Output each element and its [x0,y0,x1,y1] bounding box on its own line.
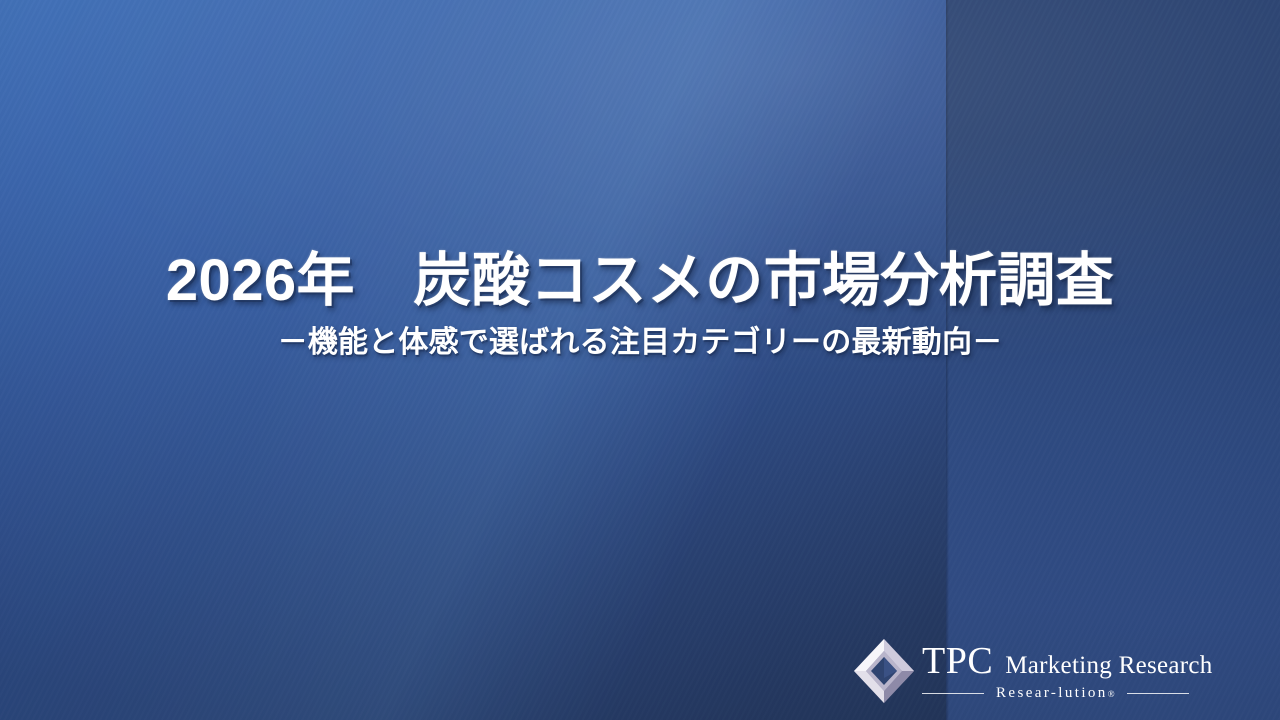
tpc-logo: TPC Marketing Research Resear-lution® [852,634,1232,708]
logo-rule-left [922,693,984,694]
logo-tagline: Resear-lution® [996,685,1115,702]
page-subtitle: －機能と体感で選ばれる注目カテゴリーの最新動向－ [0,324,1280,362]
title-slide: 2026年 炭酸コスメの市場分析調査 －機能と体感で選ばれる注目カテゴリーの最新… [0,0,1280,720]
logo-tagline-line: Resear-lution® [922,685,1213,702]
tpc-diamond-icon [852,637,916,705]
title-block: 2026年 炭酸コスメの市場分析調査 －機能と体感で選ばれる注目カテゴリーの最新… [0,246,1280,362]
logo-rule-right [1127,693,1189,694]
logo-registered-icon: ® [1108,689,1115,699]
logo-brand: TPC [922,642,993,680]
logo-tagline-text: Resear-lution [996,685,1108,701]
logo-primary-line: TPC Marketing Research [922,642,1213,680]
logo-wordmark: TPC Marketing Research Resear-lution® [922,640,1213,702]
logo-brand-suffix: Marketing Research [1005,653,1212,678]
page-title: 2026年 炭酸コスメの市場分析調査 [0,246,1280,316]
